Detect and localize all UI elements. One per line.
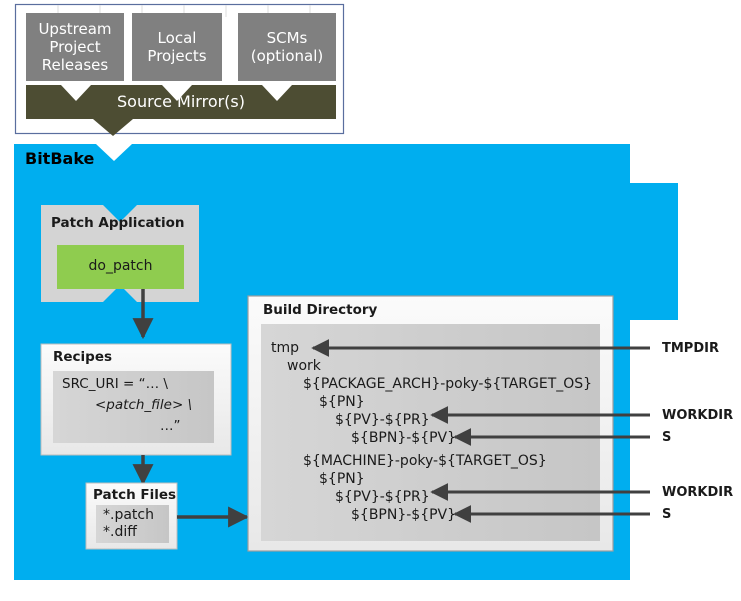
source-label-upstream-line1: Upstream [26,20,124,38]
build-tree-line-6: ${MACHINE}-poky-${TARGET_OS} [303,453,547,470]
build-directory-title: Build Directory [263,303,377,319]
annotation-label-s-2: S [662,507,671,522]
build-tree-line-9: ${BPN}-${PV} [351,507,456,524]
recipes-line-2: <patch_file> \ [95,398,192,414]
recipes-title: Recipes [53,350,112,366]
build-tree-line-7: ${PN} [319,471,365,488]
diagram-canvas: Upstream Project Releases Local Projects… [0,0,741,601]
patch-files-title: Patch Files [93,488,176,504]
source-label-upstream: Upstream Project Releases [26,13,124,81]
build-tree-line-0: tmp [271,340,299,357]
annotation-label-s-1: S [662,430,671,445]
annotation-label-workdir-2: WORKDIR [662,485,733,500]
source-label-local: Local Projects [132,13,222,81]
recipes-line-1: SRC_URI = “… \ [62,377,168,393]
build-tree-line-2: ${PACKAGE_ARCH}-poky-${TARGET_OS} [303,376,592,393]
source-label-local-line1: Local [132,29,222,47]
source-label-local-line2: Projects [132,47,222,65]
source-label-upstream-line3: Releases [26,56,124,74]
recipes-line-3: …” [160,419,181,435]
annotation-label-workdir-1: WORKDIR [662,408,733,423]
source-label-scms: SCMs (optional) [238,13,336,81]
build-tree-line-8: ${PV}-${PR} [335,489,430,506]
build-tree-line-3: ${PN} [319,394,365,411]
source-label-scms-line2: (optional) [238,47,336,65]
source-label-scms-line1: SCMs [238,29,336,47]
patch-files-line-1: *.patch [103,507,154,524]
build-tree-line-1: work [287,358,321,375]
do-patch-task-label: do_patch [57,258,184,275]
build-tree-line-4: ${PV}-${PR} [335,412,430,429]
patch-application-title: Patch Application [51,216,185,232]
build-tree-line-5: ${BPN}-${PV} [351,430,456,447]
annotation-label-tmpdir: TMPDIR [662,341,719,356]
patch-files-line-2: *.diff [103,524,137,541]
source-mirror-label: Source Mirror(s) [26,93,336,112]
source-label-upstream-line2: Project [26,38,124,56]
bitbake-title: BitBake [25,150,94,169]
